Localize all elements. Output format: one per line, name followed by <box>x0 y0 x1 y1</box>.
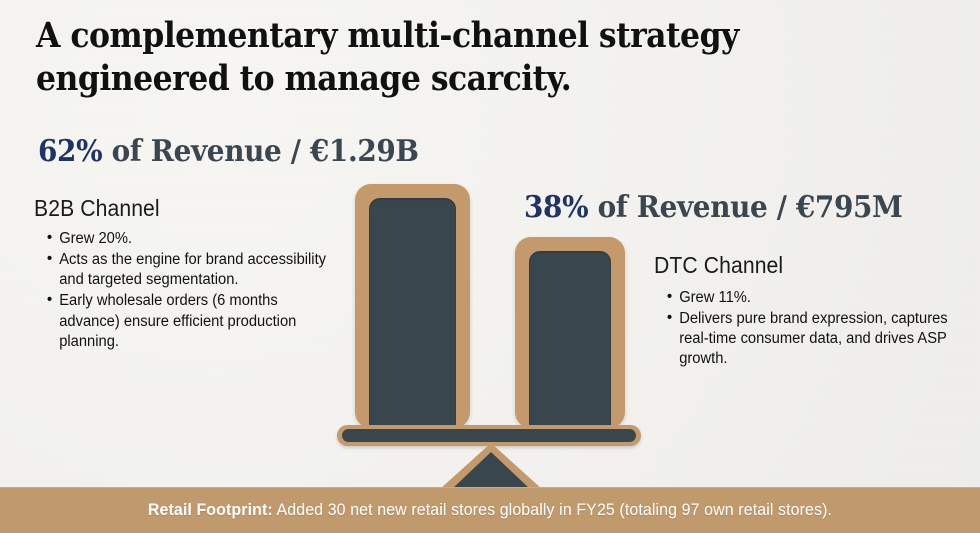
right-channel-percent: 38% <box>524 190 588 225</box>
left-channel-name: B2B Channel <box>34 195 160 222</box>
footer-text: Retail Footprint: Added 30 net new retai… <box>148 500 832 520</box>
list-item: Grew 11%. <box>679 288 964 308</box>
scale-bar-b2b-fill <box>369 198 456 428</box>
list-item: Acts as the engine for brand accessibili… <box>59 250 334 290</box>
left-channel-bullet-list: Grew 20%. Acts as the engine for brand a… <box>44 229 335 353</box>
scale-fulcrum-triangle-icon <box>440 443 542 489</box>
scale-bar-b2b <box>355 184 470 428</box>
list-item: Early wholesale orders (6 months advance… <box>59 291 334 351</box>
left-channel-stat: 62% of Revenue / €1.29B <box>38 134 419 169</box>
list-item: Grew 20%. <box>59 229 334 249</box>
left-channel-stat-rest: of Revenue / €1.29B <box>102 134 418 169</box>
slide-canvas: A complementary multi-channel strategy e… <box>0 0 980 533</box>
page-title: A complementary multi-channel strategy e… <box>36 14 774 101</box>
right-channel-bullet-list: Grew 11%. Delivers pure brand expression… <box>664 288 964 371</box>
right-channel-name: DTC Channel <box>654 252 783 279</box>
list-item: Delivers pure brand expression, captures… <box>679 309 964 369</box>
scale-bar-dtc-fill <box>529 251 611 428</box>
left-channel-percent: 62% <box>38 134 102 169</box>
right-channel-stat-rest: of Revenue / €795M <box>588 190 902 225</box>
right-channel-stat: 38% of Revenue / €795M <box>524 190 903 225</box>
footer-body: Added 30 net new retail stores globally … <box>273 500 832 519</box>
footer-band: Retail Footprint: Added 30 net new retai… <box>0 487 980 533</box>
scale-beam-fill <box>342 429 636 442</box>
scale-bar-dtc <box>515 237 625 428</box>
footer-label: Retail Footprint: <box>148 500 273 519</box>
